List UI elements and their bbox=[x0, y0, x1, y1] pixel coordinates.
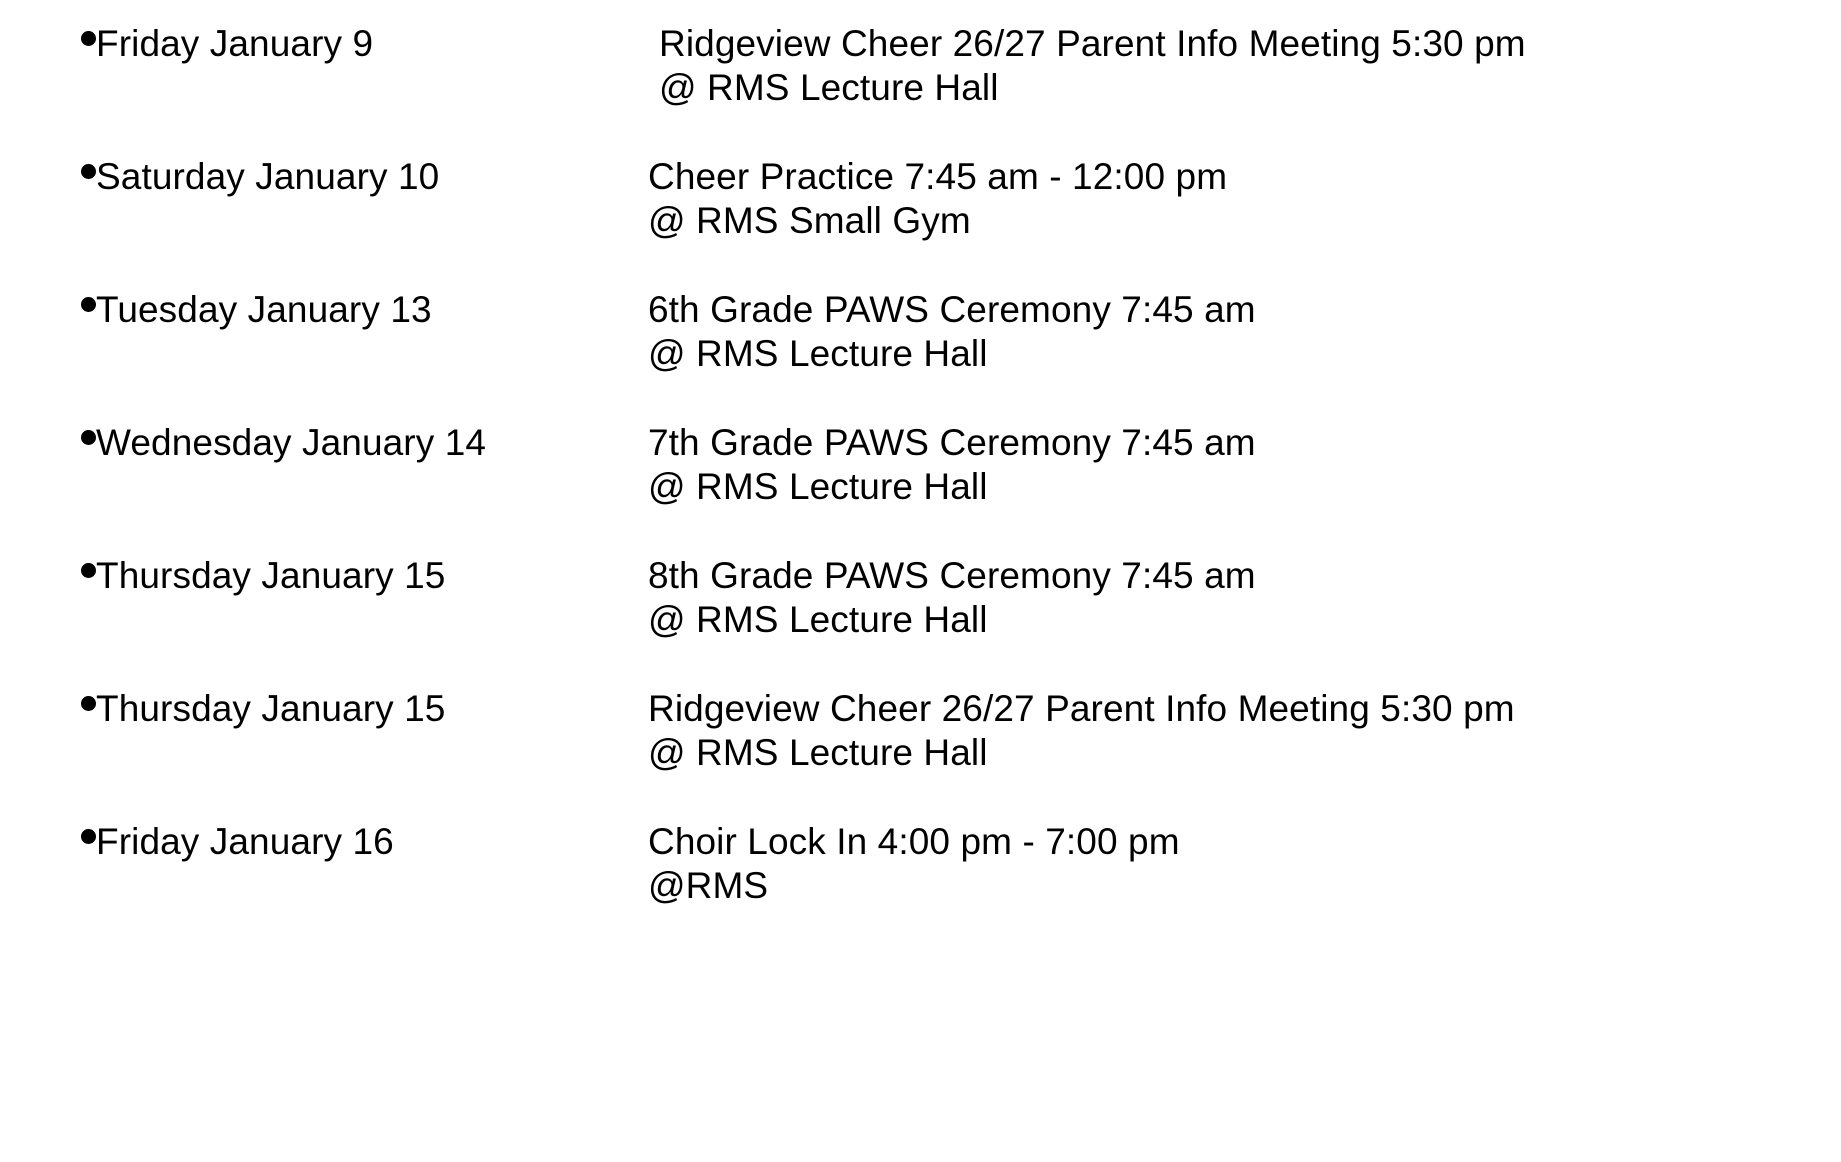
event-list-item-6: Friday January 16 Choir Lock In 4:00 pm … bbox=[0, 820, 1841, 953]
event-detail-cell: Ridgeview Cheer 26/27 Parent Info Meetin… bbox=[648, 687, 1841, 775]
bullet-cell bbox=[0, 155, 96, 179]
event-date: Wednesday January 14 bbox=[96, 421, 648, 465]
event-location: @ RMS Lecture Hall bbox=[648, 465, 1841, 509]
event-location: @RMS bbox=[648, 864, 1841, 908]
event-title: Ridgeview Cheer 26/27 Parent Info Meetin… bbox=[648, 687, 1841, 731]
bullet-cell bbox=[0, 421, 96, 445]
event-location: @ RMS Small Gym bbox=[648, 199, 1841, 243]
event-list-item-5: Thursday January 15 Ridgeview Cheer 26/2… bbox=[0, 687, 1841, 820]
event-list-item-3: Wednesday January 14 7th Grade PAWS Cere… bbox=[0, 421, 1841, 554]
bullet-cell bbox=[0, 22, 96, 46]
event-detail-cell: 8th Grade PAWS Ceremony 7:45 am @ RMS Le… bbox=[648, 554, 1841, 642]
event-title: 8th Grade PAWS Ceremony 7:45 am bbox=[648, 554, 1841, 598]
event-title: Choir Lock In 4:00 pm - 7:00 pm bbox=[648, 820, 1841, 864]
event-list-item-1: Saturday January 10 Cheer Practice 7:45 … bbox=[0, 155, 1841, 288]
event-date-cell: Tuesday January 13 bbox=[96, 288, 648, 332]
bullet-cell bbox=[0, 820, 96, 844]
bullet-cell bbox=[0, 687, 96, 711]
event-location: @ RMS Lecture Hall bbox=[648, 332, 1841, 376]
bullet-icon bbox=[81, 297, 96, 312]
event-date-cell: Saturday January 10 bbox=[96, 155, 648, 199]
bullet-cell bbox=[0, 288, 96, 312]
event-date: Friday January 16 bbox=[96, 820, 648, 864]
bullet-icon bbox=[81, 696, 96, 711]
bullet-cell bbox=[0, 554, 96, 578]
event-detail-cell: Cheer Practice 7:45 am - 12:00 pm @ RMS … bbox=[648, 155, 1841, 243]
event-date: Thursday January 15 bbox=[96, 554, 648, 598]
event-date: Saturday January 10 bbox=[96, 155, 648, 199]
bullet-icon bbox=[81, 829, 96, 844]
events-page: Friday January 9 Ridgeview Cheer 26/27 P… bbox=[0, 0, 1841, 953]
event-location: @ RMS Lecture Hall bbox=[659, 66, 1841, 110]
bullet-icon bbox=[81, 31, 96, 46]
event-date-cell: Friday January 9 bbox=[96, 22, 648, 66]
bullet-icon bbox=[81, 164, 96, 179]
event-title: Ridgeview Cheer 26/27 Parent Info Meetin… bbox=[659, 22, 1841, 66]
event-date: Friday January 9 bbox=[96, 22, 648, 66]
event-date-cell: Friday January 16 bbox=[96, 820, 648, 864]
event-detail-cell: Choir Lock In 4:00 pm - 7:00 pm @RMS bbox=[648, 820, 1841, 908]
event-detail-cell: 6th Grade PAWS Ceremony 7:45 am @ RMS Le… bbox=[648, 288, 1841, 376]
event-date-cell: Thursday January 15 bbox=[96, 554, 648, 598]
event-list-item-0: Friday January 9 Ridgeview Cheer 26/27 P… bbox=[0, 22, 1841, 155]
event-date-cell: Wednesday January 14 bbox=[96, 421, 648, 465]
event-location: @ RMS Lecture Hall bbox=[648, 731, 1841, 775]
bullet-icon bbox=[81, 430, 96, 445]
event-title: Cheer Practice 7:45 am - 12:00 pm bbox=[648, 155, 1841, 199]
event-title: 7th Grade PAWS Ceremony 7:45 am bbox=[648, 421, 1841, 465]
event-date-cell: Thursday January 15 bbox=[96, 687, 648, 731]
event-list-item-2: Tuesday January 13 6th Grade PAWS Ceremo… bbox=[0, 288, 1841, 421]
event-detail-cell: Ridgeview Cheer 26/27 Parent Info Meetin… bbox=[648, 22, 1841, 110]
bullet-icon bbox=[81, 563, 96, 578]
event-title: 6th Grade PAWS Ceremony 7:45 am bbox=[648, 288, 1841, 332]
event-detail-cell: 7th Grade PAWS Ceremony 7:45 am @ RMS Le… bbox=[648, 421, 1841, 509]
event-list-item-4: Thursday January 15 8th Grade PAWS Cerem… bbox=[0, 554, 1841, 687]
event-location: @ RMS Lecture Hall bbox=[648, 598, 1841, 642]
events-list: Friday January 9 Ridgeview Cheer 26/27 P… bbox=[0, 0, 1841, 953]
event-date: Thursday January 15 bbox=[96, 687, 648, 731]
event-date: Tuesday January 13 bbox=[96, 288, 648, 332]
